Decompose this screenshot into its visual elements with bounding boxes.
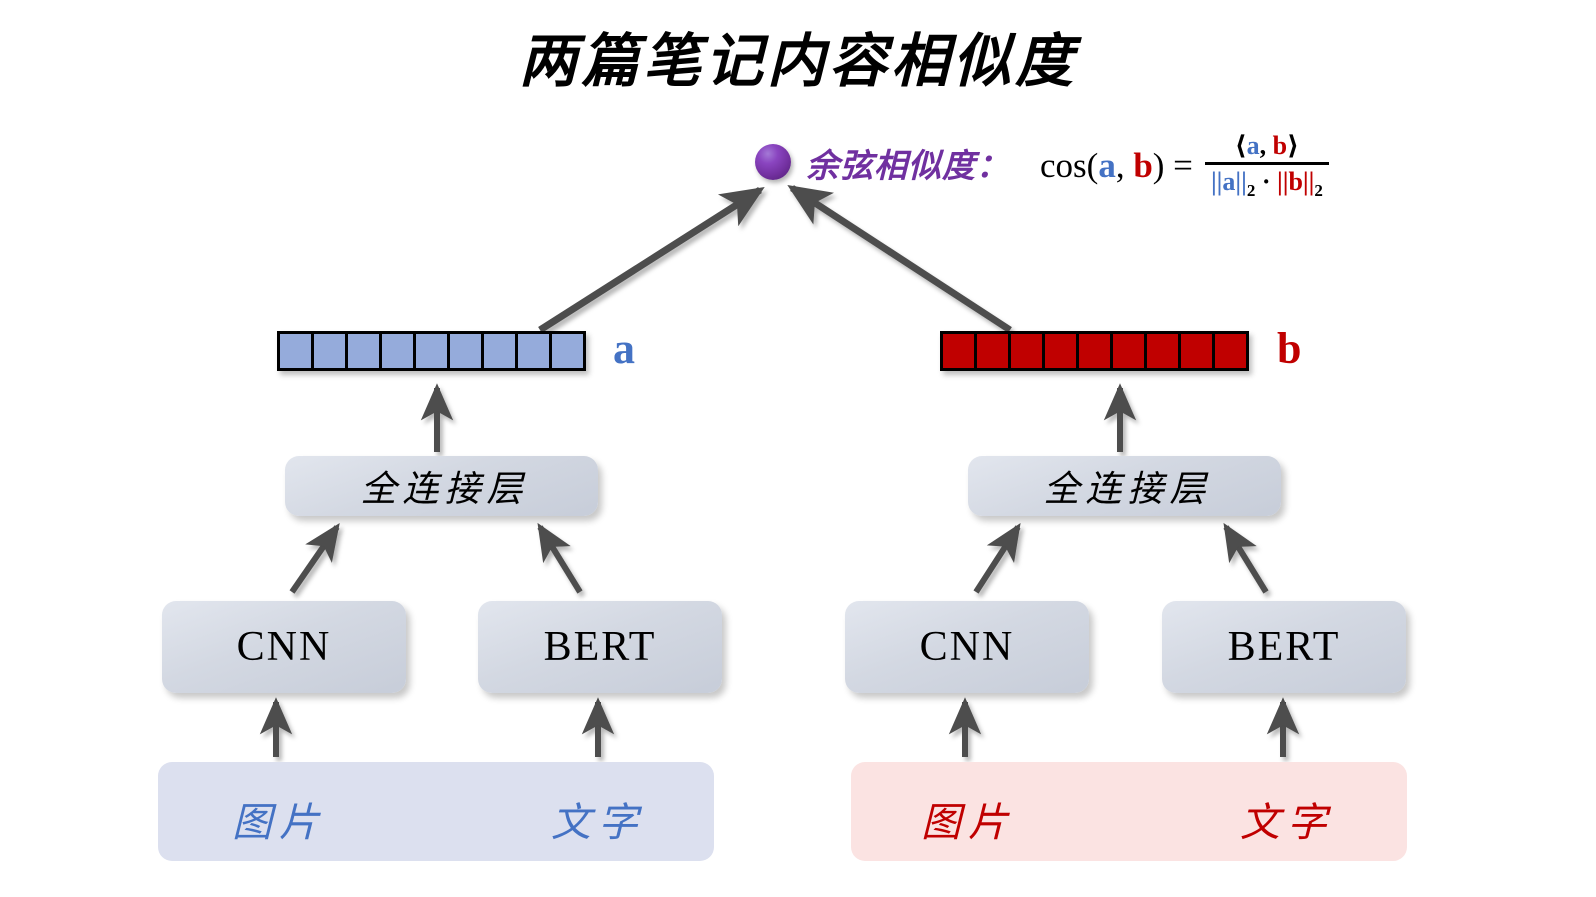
vector-a-strip — [277, 331, 586, 371]
vector-cell — [1147, 334, 1181, 368]
input-text-label-right: 文字 — [1240, 790, 1334, 848]
vector-cell — [348, 334, 382, 368]
formula-numerator: ⟨a, b⟩ — [1229, 133, 1305, 162]
formula-comma: , — [1116, 146, 1134, 185]
fc-layer-right[interactable]: 全连接层 — [968, 456, 1281, 516]
vector-cell — [450, 334, 484, 368]
bert-box-right[interactable]: BERT — [1162, 601, 1406, 693]
formula-arg-a: a — [1098, 146, 1116, 185]
vector-cell — [280, 334, 314, 368]
formula-num-b: b — [1273, 131, 1287, 160]
formula-den-b-sub: 2 — [1314, 181, 1323, 200]
arrow-b-to-similarity — [792, 188, 1010, 330]
formula-num-comma: , — [1260, 131, 1273, 160]
arrow-bert-left-to-fc — [540, 527, 580, 592]
diagram-canvas: 两篇笔记内容相似度 — [0, 0, 1596, 897]
vector-a-label: a — [613, 323, 635, 374]
cosine-similarity-formula: cos(a, b) = ⟨a, b⟩ ||a||2 · ||b||2 — [1040, 128, 1329, 204]
arrow-a-to-similarity — [540, 190, 760, 330]
vector-cell — [1011, 334, 1045, 368]
fc-layer-left[interactable]: 全连接层 — [285, 456, 598, 516]
cnn-box-left[interactable]: CNN — [162, 601, 406, 693]
formula-lhs: cos( — [1040, 146, 1098, 185]
formula-num-close: ⟩ — [1287, 131, 1299, 160]
formula-fraction: ⟨a, b⟩ ||a||2 · ||b||2 — [1205, 133, 1329, 199]
similarity-sphere-icon — [755, 144, 791, 180]
input-image-label-right: 图片 — [921, 790, 1015, 848]
formula-den-a: ||a|| — [1211, 167, 1247, 196]
cnn-box-right[interactable]: CNN — [845, 601, 1089, 693]
formula-num-a: a — [1247, 131, 1260, 160]
vector-cell — [416, 334, 450, 368]
bert-box-left[interactable]: BERT — [478, 601, 722, 693]
vector-cell — [1181, 334, 1215, 368]
vector-cell — [518, 334, 552, 368]
input-text-label-left: 文字 — [551, 790, 645, 848]
vector-cell — [1079, 334, 1113, 368]
vector-cell — [382, 334, 416, 368]
formula-den-dot: · — [1255, 167, 1277, 196]
arrow-cnn-left-to-fc — [292, 527, 337, 592]
vector-b-label: b — [1277, 323, 1301, 374]
vector-cell — [552, 334, 583, 368]
formula-num-open: ⟨ — [1235, 131, 1247, 160]
arrow-cnn-right-to-fc — [976, 527, 1018, 592]
vector-cell — [1113, 334, 1147, 368]
formula-arg-b: b — [1133, 146, 1152, 185]
vector-cell — [484, 334, 518, 368]
vector-cell — [1045, 334, 1079, 368]
vector-cell — [943, 334, 977, 368]
vector-cell — [977, 334, 1011, 368]
vector-cell — [314, 334, 348, 368]
formula-den-b: ||b|| — [1277, 167, 1314, 196]
vector-b-strip — [940, 331, 1249, 371]
vector-cell — [1215, 334, 1246, 368]
arrow-bert-right-to-fc — [1226, 527, 1266, 592]
page-title: 两篇笔记内容相似度 — [0, 14, 1596, 98]
formula-lhs-close: ) = — [1153, 146, 1193, 185]
cosine-similarity-label: 余弦相似度： — [806, 139, 1010, 187]
input-image-label-left: 图片 — [232, 790, 326, 848]
formula-denominator: ||a||2 · ||b||2 — [1205, 165, 1329, 199]
